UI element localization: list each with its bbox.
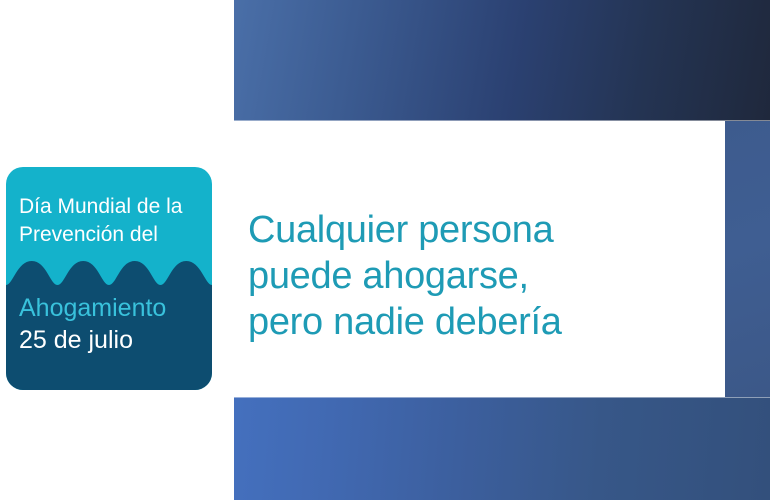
background-block-right: [725, 121, 770, 397]
badge-bottom-text-group: Ahogamiento 25 de julio: [19, 292, 209, 356]
headline-text: Cualquier persona puede ahogarse, pero n…: [248, 207, 718, 345]
white-content-card: Cualquier persona puede ahogarse, pero n…: [234, 121, 725, 397]
campaign-badge: Día Mundial de la Prevención del Ahogami…: [6, 167, 212, 390]
background-block-top: [234, 0, 770, 121]
badge-title-text: Día Mundial de la Prevención del: [19, 193, 209, 249]
poster-canvas: Cualquier persona puede ahogarse, pero n…: [0, 0, 770, 500]
badge-keyword-text: Ahogamiento: [19, 292, 209, 324]
background-block-bottom: [234, 397, 770, 500]
badge-date-text: 25 de julio: [19, 324, 209, 356]
